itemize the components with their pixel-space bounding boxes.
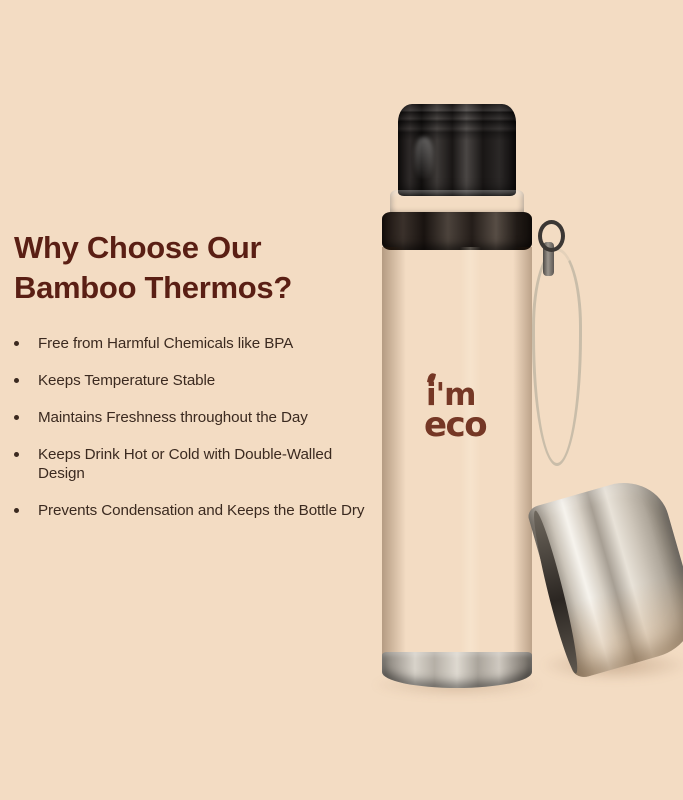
benefit-text: Maintains Freshness throughout the Day bbox=[38, 409, 308, 426]
benefits-list: Free from Harmful Chemicals like BPA Kee… bbox=[14, 334, 376, 520]
list-item: Free from Harmful Chemicals like BPA bbox=[14, 334, 376, 353]
bullet-dot-icon bbox=[14, 415, 19, 420]
stainless-steel-cup bbox=[526, 472, 683, 680]
logo-line-2: eco bbox=[424, 408, 486, 442]
benefit-text: Prevents Condensation and Keeps the Bott… bbox=[38, 502, 364, 519]
bullet-dot-icon bbox=[14, 378, 19, 383]
brand-logo: i'm eco bbox=[424, 372, 490, 444]
wrist-strap-loop bbox=[524, 228, 586, 464]
headline-line-1: Why Choose Our bbox=[14, 230, 261, 265]
list-item: Keeps Drink Hot or Cold with Double-Wall… bbox=[14, 445, 376, 483]
steel-base-band bbox=[382, 652, 532, 688]
bamboo-thermos-bottle: i'm eco bbox=[376, 104, 536, 690]
page-title: Why Choose Our Bamboo Thermos? bbox=[14, 228, 376, 308]
black-threaded-stopper bbox=[398, 104, 516, 196]
list-item: Keeps Temperature Stable bbox=[14, 371, 376, 390]
dark-collar bbox=[382, 212, 532, 250]
strap-cord bbox=[532, 248, 582, 466]
list-item: Maintains Freshness throughout the Day bbox=[14, 408, 376, 427]
bullet-dot-icon bbox=[14, 452, 19, 457]
product-marketing-image: Why Choose Our Bamboo Thermos? Free from… bbox=[0, 0, 683, 800]
benefit-text: Keeps Temperature Stable bbox=[38, 372, 215, 389]
copy-block: Why Choose Our Bamboo Thermos? Free from… bbox=[14, 228, 376, 538]
bullet-dot-icon bbox=[14, 508, 19, 513]
body-shading-left bbox=[382, 247, 406, 659]
bullet-dot-icon bbox=[14, 341, 19, 346]
list-item: Prevents Condensation and Keeps the Bott… bbox=[14, 501, 376, 520]
headline-line-2: Bamboo Thermos? bbox=[14, 270, 292, 305]
benefit-text: Keeps Drink Hot or Cold with Double-Wall… bbox=[38, 446, 332, 482]
benefit-text: Free from Harmful Chemicals like BPA bbox=[38, 335, 293, 352]
body-highlight bbox=[460, 247, 481, 659]
strap-lug-icon bbox=[538, 220, 565, 252]
bamboo-body bbox=[382, 247, 532, 659]
